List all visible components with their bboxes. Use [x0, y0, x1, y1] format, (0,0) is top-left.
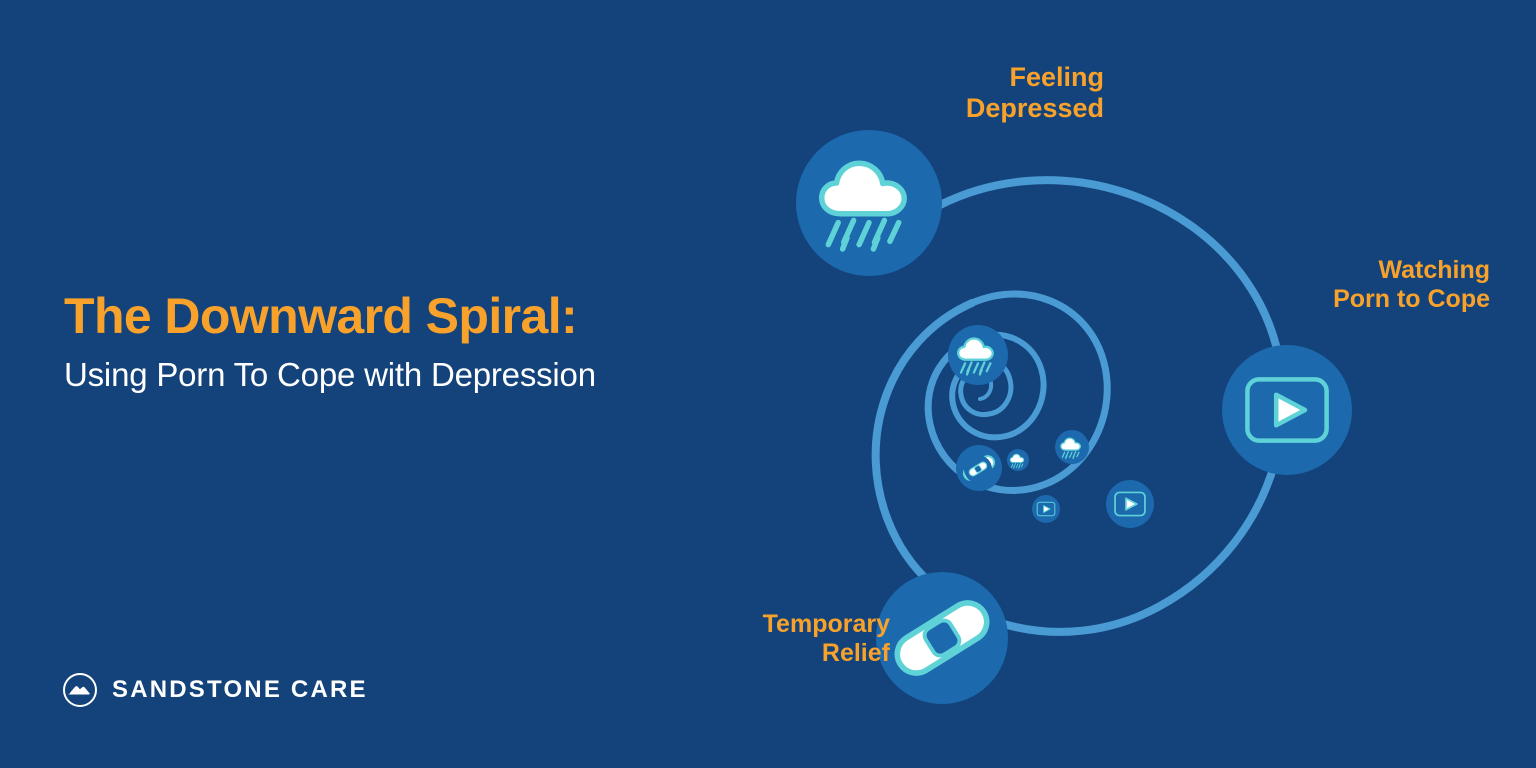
infographic-canvas: The Downward Spiral: Using Porn To Cope …: [0, 0, 1536, 768]
page-title: The Downward Spiral:: [64, 290, 824, 343]
stage-node-depressed-loop3[interactable]: [1055, 430, 1089, 464]
brand-name: SANDSTONE CARE: [112, 678, 368, 702]
stage-label-watching: Watching Porn to Cope: [1333, 256, 1490, 314]
mountain-circle-logo-icon: [62, 672, 98, 708]
stage-node-relief[interactable]: [876, 572, 1008, 704]
brand-logo[interactable]: SANDSTONE CARE: [62, 672, 368, 708]
stage-node-depressed[interactable]: [796, 130, 942, 276]
stage-node-depressed-loop4[interactable]: [1007, 449, 1029, 471]
spiral-diagram: Feeling Depressed Watching Porn to Cope …: [760, 0, 1536, 768]
stage-node-relief-loop3[interactable]: [964, 455, 992, 483]
page-subtitle: Using Porn To Cope with Depression: [64, 357, 824, 393]
stage-node-watching[interactable]: [1222, 345, 1352, 475]
stage-label-relief: Temporary Relief: [763, 610, 890, 668]
stage-node-watching-loop2[interactable]: [1106, 480, 1154, 528]
title-block: The Downward Spiral: Using Porn To Cope …: [64, 290, 824, 393]
stage-node-depressed-loop2[interactable]: [948, 325, 1008, 385]
stage-label-depressed: Feeling Depressed: [966, 62, 1104, 125]
stage-node-watching-loop3[interactable]: [1032, 495, 1060, 523]
